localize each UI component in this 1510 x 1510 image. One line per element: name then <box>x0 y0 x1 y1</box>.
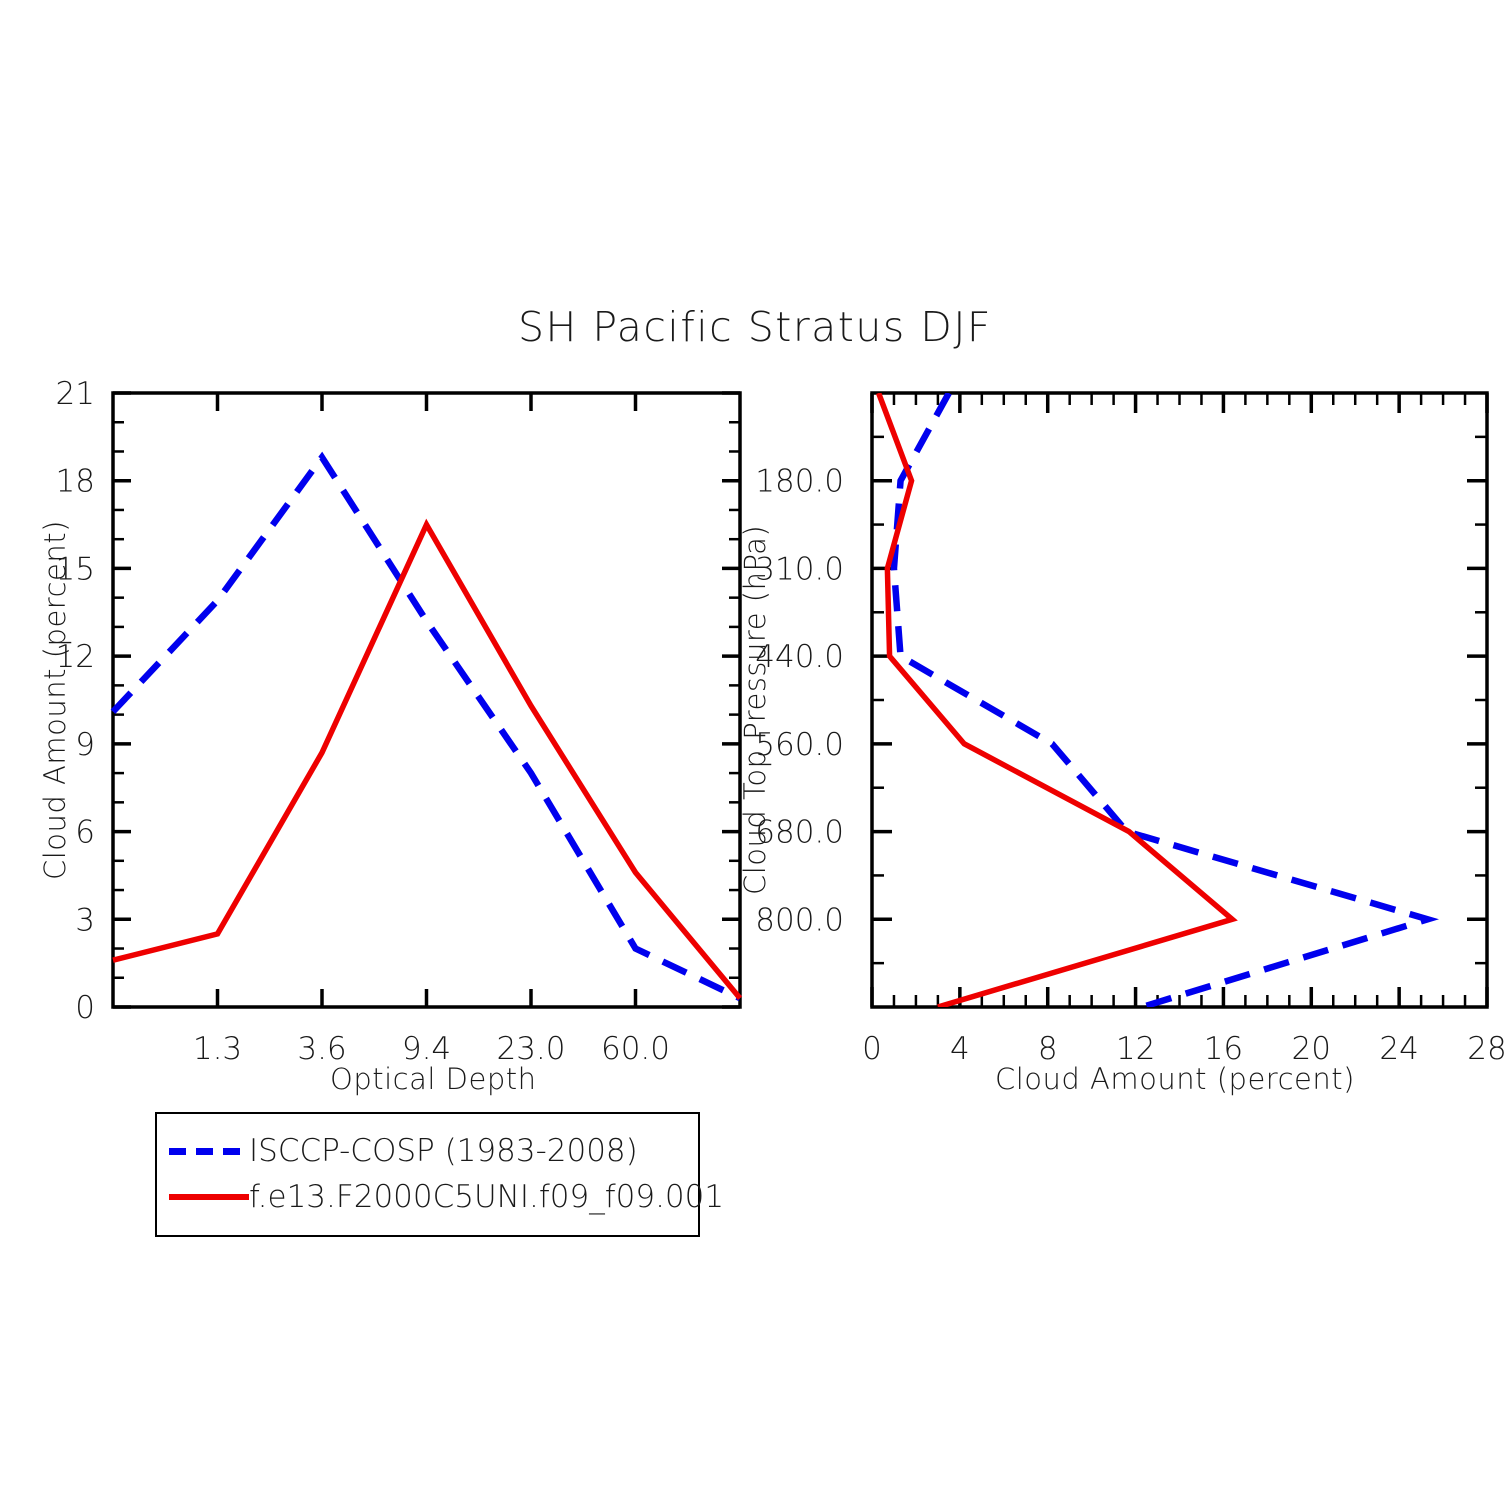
right-series-isccp <box>894 393 1428 1007</box>
legend-swatch-dashed-line <box>169 1148 249 1155</box>
right-x-ticklabel: 4 <box>950 1031 970 1067</box>
right-x-ticklabel: 28 <box>1467 1031 1506 1067</box>
legend: ISCCP-COSP (1983-2008) f.e13.F2000C5UNI.… <box>155 1112 700 1237</box>
right-plot-frame <box>872 393 1487 1007</box>
legend-label-model: f.e13.F2000C5UNI.f09_f09.001 <box>249 1179 724 1215</box>
right-yaxis-label: Cloud Top Pressure (hPa) <box>738 525 772 895</box>
legend-item-isccp[interactable]: ISCCP-COSP (1983-2008) <box>157 1128 698 1174</box>
chart-page: SH Pacific Stratus DJF 0369121518211.33.… <box>0 0 1510 1510</box>
right-x-ticklabel: 0 <box>862 1031 882 1067</box>
legend-swatch-solid-line <box>169 1194 249 1200</box>
right-x-ticklabel: 24 <box>1379 1031 1418 1067</box>
right-series-model <box>879 393 1233 1007</box>
legend-label-isccp: ISCCP-COSP (1983-2008) <box>249 1133 638 1169</box>
legend-item-model[interactable]: f.e13.F2000C5UNI.f09_f09.001 <box>157 1174 698 1220</box>
right-y-ticklabel: 180.0 <box>755 464 844 500</box>
right-y-ticklabel: 800.0 <box>755 902 844 938</box>
right-xaxis-label: Cloud Amount (percent) <box>995 1062 1355 1096</box>
